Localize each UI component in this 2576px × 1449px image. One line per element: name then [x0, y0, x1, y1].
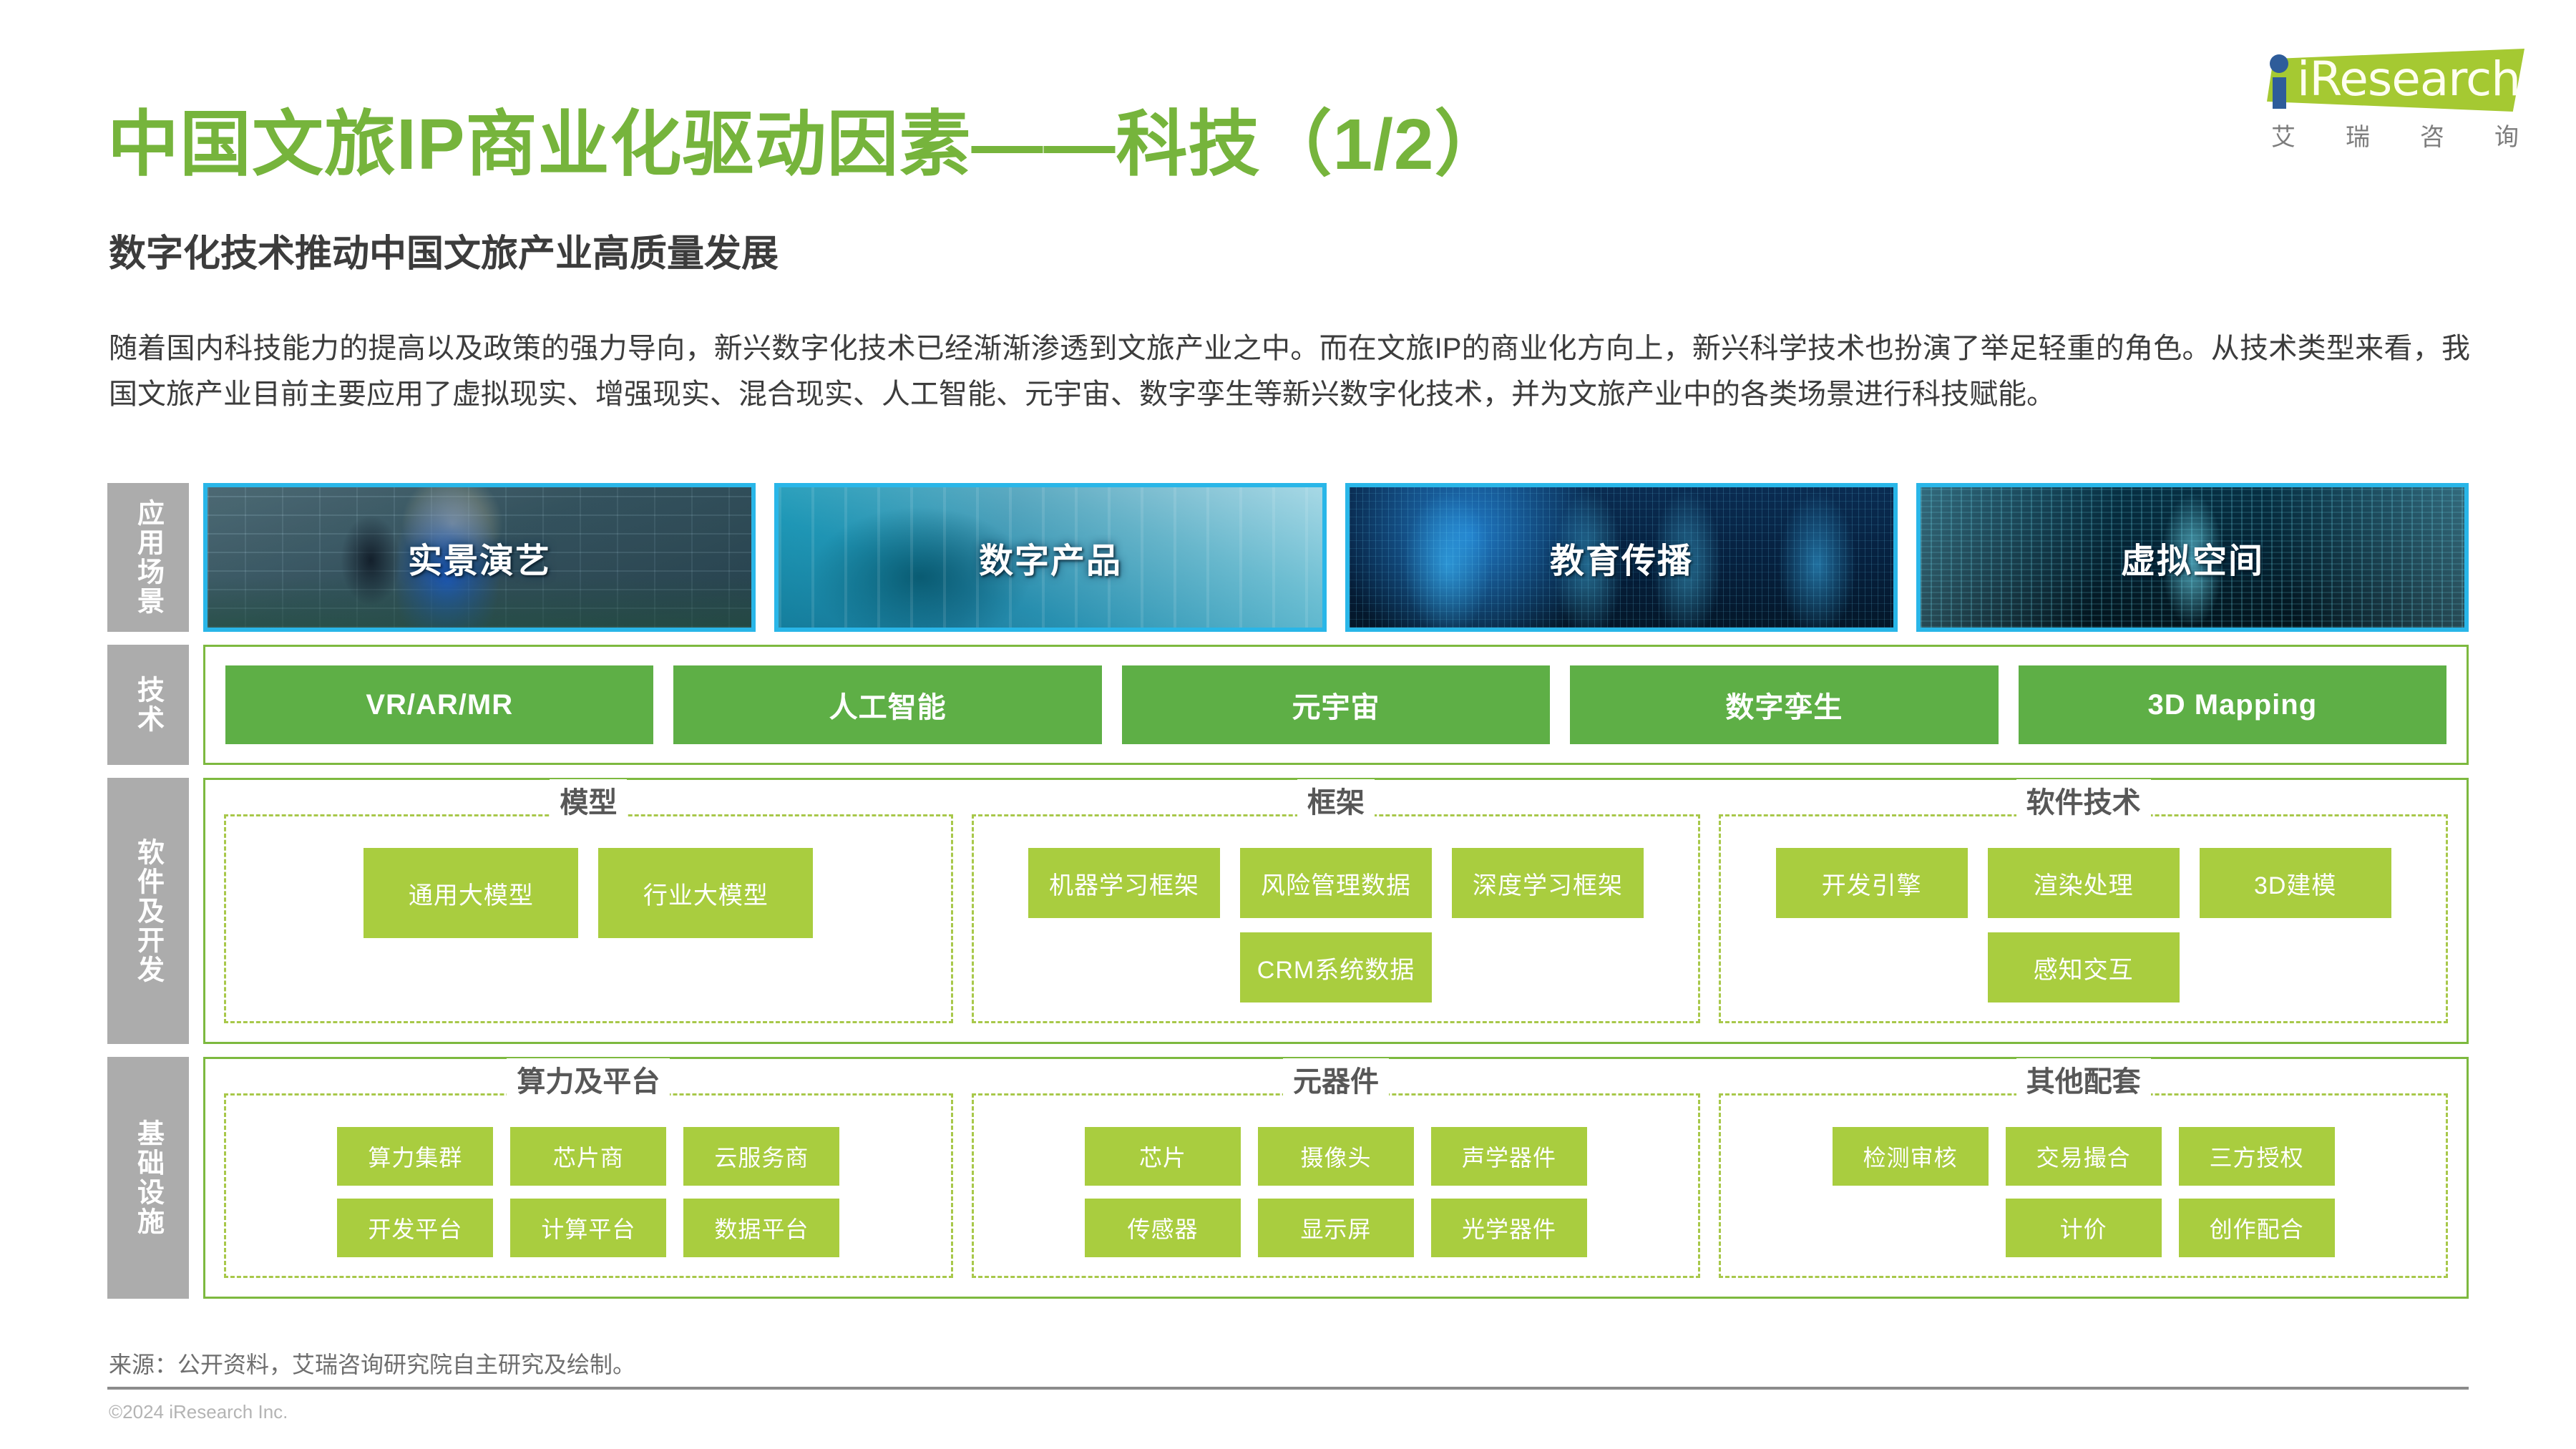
tile-column-list: 检测审核 交易撮合 计价 三方授权 创作配合 [1740, 1127, 2427, 1257]
row-software-development: 软件及开发 模型 通用大模型 行业大模型 框架 机器学习框架 [107, 778, 2469, 1044]
logo-cn-char-1: 艾 [2271, 117, 2297, 152]
row-body-infrastructure: 算力及平台 算力集群 开发平台 芯片商 计算平台 云服务商 [203, 1057, 2469, 1299]
tile[interactable]: 渲染处理 [1988, 848, 2180, 918]
tile[interactable]: 机器学习框架 [1028, 848, 1220, 918]
group-title: 模型 [550, 779, 627, 821]
tile[interactable]: 行业大模型 [598, 848, 813, 938]
tile[interactable]: 传感器 [1085, 1199, 1241, 1257]
tile-column: 芯片 传感器 [1085, 1127, 1241, 1257]
tile-column: 云服务商 数据平台 [683, 1127, 839, 1257]
technology-chip-list: VR/AR/MR 人工智能 元宇宙 数字孪生 3D Mapping [203, 645, 2469, 765]
slide-root: iResearch 艾 瑞 咨 询 中国文旅IP商业化驱动因素——科技（1/2）… [0, 0, 2576, 1449]
logo-chinese-name: 艾 瑞 咨 询 [2271, 117, 2520, 152]
scenario-card-list: 实景演艺 数字产品 教育传播 虚拟空间 [203, 483, 2469, 632]
row-label-application-scenarios: 应用场景 [107, 483, 189, 632]
tile[interactable]: 摄像头 [1258, 1127, 1414, 1186]
group-title: 算力及平台 [507, 1058, 670, 1100]
logo-mark: iResearch [2245, 37, 2532, 116]
row-label-infrastructure: 基础设施 [107, 1057, 189, 1299]
logo-cn-char-2: 瑞 [2346, 117, 2371, 152]
scenario-card-education[interactable]: 教育传播 [1345, 483, 1898, 632]
row-application-scenarios: 应用场景 实景演艺 数字产品 教育传播 [107, 483, 2469, 632]
group-title: 框架 [1297, 779, 1375, 821]
infrastructure-group-components: 元器件 芯片 传感器 摄像头 显示屏 声学器件 [972, 1093, 1701, 1278]
scenario-card-digital-product[interactable]: 数字产品 [774, 483, 1327, 632]
technology-chip[interactable]: 元宇宙 [1122, 665, 1550, 744]
tile-column-list: 算力集群 开发平台 芯片商 计算平台 云服务商 数据平台 [245, 1127, 932, 1257]
tile-column: 芯片商 计算平台 [510, 1127, 666, 1257]
tile[interactable]: 显示屏 [1258, 1199, 1414, 1257]
scenario-label: 实景演艺 [408, 532, 551, 582]
logo-cn-char-3: 咨 [2420, 117, 2446, 152]
row-technology: 技术 VR/AR/MR 人工智能 元宇宙 数字孪生 3D Mapping [107, 645, 2469, 765]
tile[interactable]: 开发平台 [337, 1199, 493, 1257]
tile[interactable]: 感知交互 [1988, 932, 2180, 1002]
body-paragraph: 随着国内科技能力的提高以及政策的强力导向，新兴数字化技术已经渐渐渗透到文旅产业之… [109, 326, 2470, 417]
tile[interactable]: 交易撮合 [2006, 1127, 2162, 1186]
tile[interactable]: 声学器件 [1431, 1127, 1587, 1186]
scenario-card-virtual-space[interactable]: 虚拟空间 [1916, 483, 2469, 632]
scenario-label: 教育传播 [1550, 532, 1693, 582]
scenario-label: 数字产品 [979, 532, 1122, 582]
row-label-technology: 技术 [107, 645, 189, 765]
scenario-card-live-performance[interactable]: 实景演艺 [203, 483, 756, 632]
tile-list: 机器学习框架 风险管理数据 深度学习框架 CRM系统数据 [992, 848, 1680, 1002]
group-title: 软件技术 [2016, 779, 2151, 821]
tile[interactable]: 计算平台 [510, 1199, 666, 1257]
group-title: 其他配套 [2016, 1058, 2151, 1100]
infrastructure-group-compute-platform: 算力及平台 算力集群 开发平台 芯片商 计算平台 云服务商 [224, 1093, 953, 1278]
infrastructure-group-list: 算力及平台 算力集群 开发平台 芯片商 计算平台 云服务商 [203, 1057, 2469, 1299]
tile[interactable]: 云服务商 [683, 1127, 839, 1186]
page-title: 中国文旅IP商业化驱动因素——科技（1/2） [107, 86, 1507, 190]
tile-column: 声学器件 光学器件 [1431, 1127, 1587, 1257]
tile[interactable]: 通用大模型 [364, 848, 578, 938]
row-body-software-development: 模型 通用大模型 行业大模型 框架 机器学习框架 风险管理数据 深度学习框架 C… [203, 778, 2469, 1044]
technology-chip[interactable]: VR/AR/MR [225, 665, 653, 744]
tile[interactable]: 计价 [2006, 1199, 2162, 1257]
infrastructure-group-other-support: 其他配套 检测审核 交易撮合 计价 三方授权 创作配合 [1719, 1093, 2448, 1278]
tile[interactable]: 创作配合 [2179, 1199, 2335, 1257]
source-note: 来源：公开资料，艾瑞咨询研究院自主研究及绘制。 [109, 1347, 635, 1380]
technology-chip[interactable]: 人工智能 [673, 665, 1101, 744]
tile[interactable]: 芯片商 [510, 1127, 666, 1186]
copyright-note: ©2024 iResearch Inc. [109, 1401, 288, 1423]
technology-stack-diagram: 应用场景 实景演艺 数字产品 教育传播 [107, 483, 2469, 1312]
software-group-framework: 框架 机器学习框架 风险管理数据 深度学习框架 CRM系统数据 [972, 814, 1701, 1023]
technology-chip[interactable]: 数字孪生 [1570, 665, 1998, 744]
tile-column: 检测审核 [1833, 1127, 1989, 1257]
row-body-technology: VR/AR/MR 人工智能 元宇宙 数字孪生 3D Mapping [203, 645, 2469, 765]
tile[interactable]: 风险管理数据 [1240, 848, 1432, 918]
tile[interactable]: 深度学习框架 [1452, 848, 1644, 918]
logo-cn-char-4: 询 [2494, 117, 2520, 152]
tile-list: 开发引擎 渲染处理 3D建模 感知交互 [1740, 848, 2427, 1002]
software-group-software-technology: 软件技术 开发引擎 渲染处理 3D建模 感知交互 [1719, 814, 2448, 1023]
scenario-label: 虚拟空间 [2121, 532, 2264, 582]
tile[interactable]: 芯片 [1085, 1127, 1241, 1186]
software-group-model: 模型 通用大模型 行业大模型 [224, 814, 953, 1023]
tile-column: 摄像头 显示屏 [1258, 1127, 1414, 1257]
tile[interactable]: 光学器件 [1431, 1199, 1587, 1257]
tile[interactable]: 算力集群 [337, 1127, 493, 1186]
row-infrastructure: 基础设施 算力及平台 算力集群 开发平台 芯片商 计算平台 [107, 1057, 2469, 1299]
row-label-software-development: 软件及开发 [107, 778, 189, 1044]
iresearch-logo: iResearch 艾 瑞 咨 询 [2245, 37, 2532, 157]
group-title: 元器件 [1283, 1058, 1389, 1100]
tile[interactable]: 检测审核 [1833, 1127, 1989, 1186]
footer-divider [107, 1387, 2469, 1390]
technology-chip[interactable]: 3D Mapping [2019, 665, 2446, 744]
tile[interactable]: CRM系统数据 [1240, 932, 1432, 1002]
page-subtitle: 数字化技术推动中国文旅产业高质量发展 [109, 223, 779, 277]
tile[interactable]: 三方授权 [2179, 1127, 2335, 1186]
logo-wordmark: iResearch [2297, 52, 2520, 107]
tile[interactable]: 3D建模 [2200, 848, 2391, 918]
tile[interactable]: 开发引擎 [1776, 848, 1968, 918]
tile[interactable]: 数据平台 [683, 1199, 839, 1257]
tile-column-list: 芯片 传感器 摄像头 显示屏 声学器件 光学器件 [992, 1127, 1680, 1257]
tile-column: 三方授权 创作配合 [2179, 1127, 2335, 1257]
software-group-list: 模型 通用大模型 行业大模型 框架 机器学习框架 风险管理数据 深度学习框架 C… [203, 778, 2469, 1044]
logo-i-stem-icon [2273, 77, 2286, 109]
row-body-application-scenarios: 实景演艺 数字产品 教育传播 虚拟空间 [203, 483, 2469, 632]
logo-i-dot-icon [2270, 54, 2288, 73]
tile-list: 通用大模型 行业大模型 [245, 848, 932, 938]
tile-column: 交易撮合 计价 [2006, 1127, 2162, 1257]
tile-column: 算力集群 开发平台 [337, 1127, 493, 1257]
